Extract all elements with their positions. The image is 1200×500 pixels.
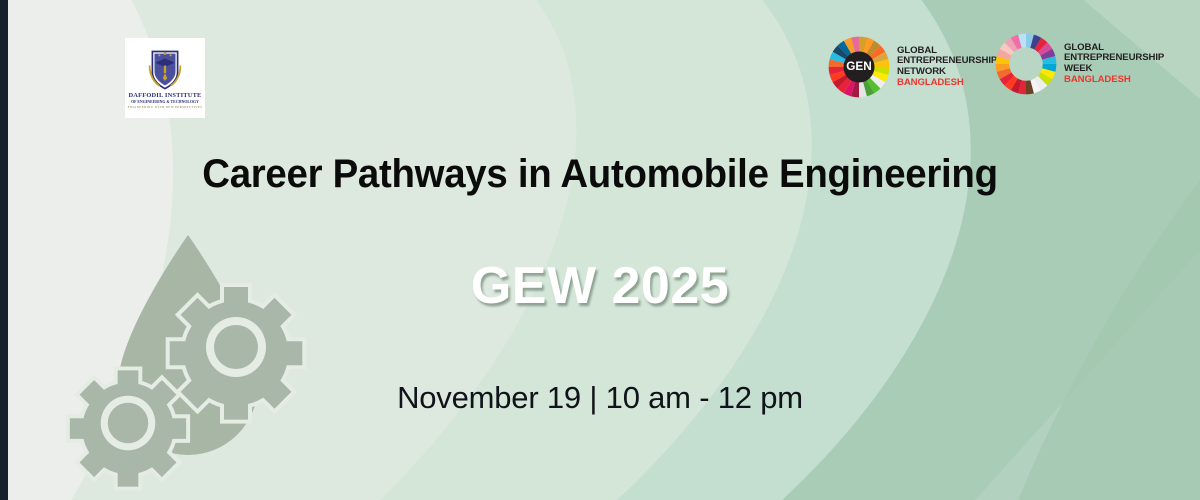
gen-logo-text: GLOBAL ENTREPRENEURSHIP NETWORK BANGLADE… — [897, 46, 997, 88]
logo-daffodil-institute: DAFFODIL INSTITUTE OF ENGINEERING & TECH… — [125, 38, 205, 118]
event-title: Career Pathways in Automobile Engineerin… — [24, 152, 1176, 197]
logo-gew-bangladesh: GLOBAL ENTREPRENEURSHIP WEEK BANGLADESH — [995, 33, 1164, 95]
logo-gen-bangladesh: GEN GLOBAL ENTREPRENEURSHIP NETWORK BANG… — [828, 36, 997, 98]
diet-logo-tagline: ENGINEERING WITH NEW PERSPECTIVES — [128, 105, 203, 109]
graduation-crest-icon — [144, 47, 186, 91]
event-date-time: November 19 | 10 am - 12 pm — [0, 380, 1200, 416]
event-badge-gew-2025: GEW 2025 — [0, 256, 1200, 316]
gew-color-ring-icon — [995, 33, 1057, 95]
diet-logo-name: DAFFODIL INSTITUTE — [128, 92, 201, 99]
svg-text:GEN: GEN — [846, 60, 872, 73]
gen-line-2: ENTREPRENEURSHIP — [897, 56, 997, 66]
gen-line-3: NETWORK — [897, 67, 997, 77]
left-edge-strip — [0, 0, 8, 500]
gen-color-wheel-icon: GEN — [828, 36, 890, 98]
gew-logo-text: GLOBAL ENTREPRENEURSHIP WEEK BANGLADESH — [1064, 43, 1164, 85]
gen-country: BANGLADESH — [897, 78, 997, 88]
gew-country: BANGLADESH — [1064, 75, 1164, 85]
gew-line-3: WEEK — [1064, 64, 1164, 74]
gew-line-2: ENTREPRENEURSHIP — [1064, 53, 1164, 63]
event-banner: DAFFODIL INSTITUTE OF ENGINEERING & TECH… — [0, 0, 1200, 500]
diet-logo-subtitle: OF ENGINEERING & TECHNOLOGY — [131, 100, 199, 104]
